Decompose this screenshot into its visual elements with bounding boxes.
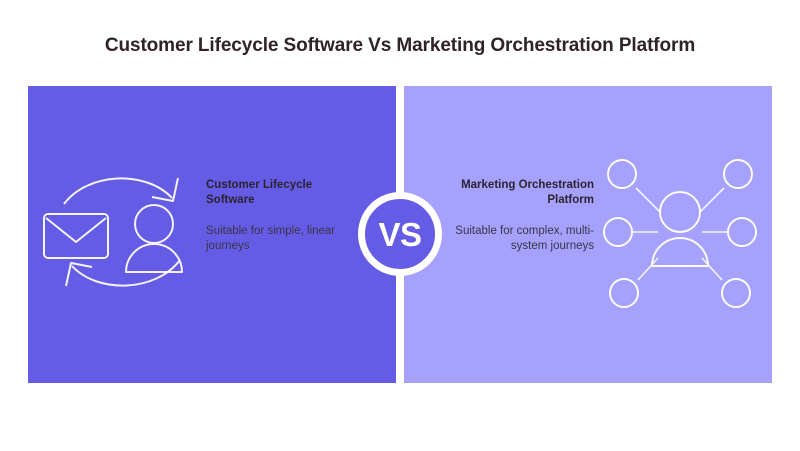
panel-right-heading: Marketing Orchestration Platform	[446, 178, 594, 208]
panel-right-description: Suitable for complex, multi-system journ…	[446, 224, 594, 254]
comparison-infographic: Customer Lifecycle Software Vs Marketing…	[0, 0, 800, 451]
page-title: Customer Lifecycle Software Vs Marketing…	[0, 33, 800, 59]
comparison-panel-right: Marketing Orchestration Platform Suitabl…	[404, 86, 772, 383]
versus-badge-label: VS	[378, 218, 421, 251]
versus-badge-icon: VS	[358, 192, 442, 276]
panel-right-text: Marketing Orchestration Platform Suitabl…	[446, 178, 594, 254]
panel-left-description: Suitable for simple, linear journeys	[206, 224, 354, 254]
email-customer-cycle-icon	[42, 152, 202, 312]
panel-left-text: Customer Lifecycle Software Suitable for…	[206, 178, 354, 254]
panel-left-heading: Customer Lifecycle Software	[206, 178, 354, 208]
network-hub-person-icon	[596, 148, 764, 316]
comparison-panel-left: Customer Lifecycle Software Suitable for…	[28, 86, 396, 383]
